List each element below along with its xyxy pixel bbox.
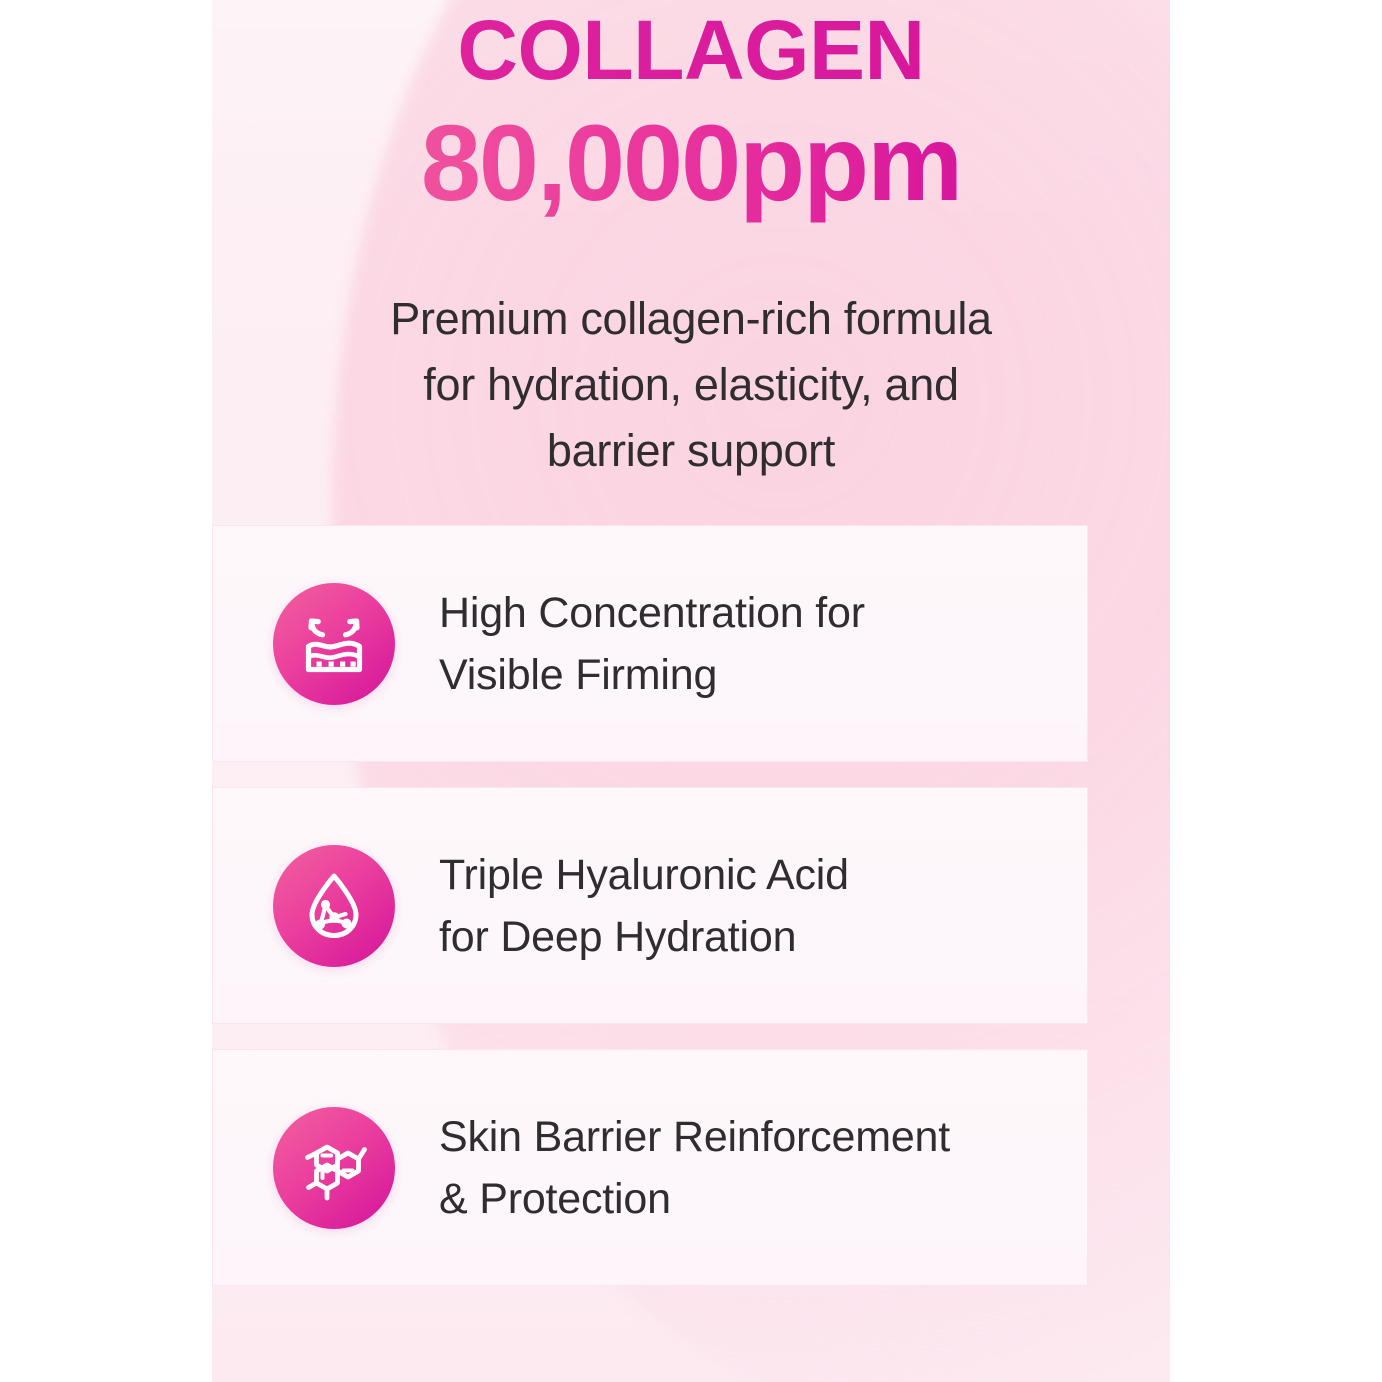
feature-label-line-1: Triple Hyaluronic Acid	[439, 844, 849, 906]
feature-card: Triple Hyaluronic Acid for Deep Hydratio…	[212, 787, 1088, 1024]
skin-layers-firming-icon	[273, 583, 395, 705]
feature-label-line-1: High Concentration for	[439, 582, 865, 644]
feature-card-list: High Concentration for Visible Firming	[212, 525, 1170, 1286]
water-droplet-molecule-icon	[273, 845, 395, 967]
feature-label-line-2: for Deep Hydration	[439, 906, 849, 968]
pink-canvas: COLLAGEN 80,000ppm Premium collagen-rich…	[212, 0, 1170, 1382]
headline-block: COLLAGEN 80,000ppm	[212, 0, 1170, 224]
feature-card-label: Triple Hyaluronic Acid for Deep Hydratio…	[439, 844, 849, 968]
subtitle-line-3: barrier support	[212, 418, 1170, 484]
feature-label-line-1: Skin Barrier Reinforcement	[439, 1106, 950, 1168]
feature-card-label: Skin Barrier Reinforcement & Protection	[439, 1106, 950, 1230]
feature-card: Skin Barrier Reinforcement & Protection	[212, 1049, 1088, 1286]
feature-card: High Concentration for Visible Firming	[212, 525, 1088, 762]
feature-card-label: High Concentration for Visible Firming	[439, 582, 865, 706]
product-title: COLLAGEN	[212, 0, 1170, 98]
subtitle-line-2: for hydration, elasticity, and	[212, 352, 1170, 418]
subtitle: Premium collagen-rich formula for hydrat…	[212, 286, 1170, 484]
feature-label-line-2: & Protection	[439, 1168, 950, 1230]
concentration-value: 80,000ppm	[212, 98, 1170, 224]
subtitle-line-1: Premium collagen-rich formula	[212, 286, 1170, 352]
feature-label-line-2: Visible Firming	[439, 644, 865, 706]
hexagon-molecule-icon	[273, 1107, 395, 1229]
content-area: COLLAGEN 80,000ppm Premium collagen-rich…	[212, 0, 1170, 1382]
infographic-page: COLLAGEN 80,000ppm Premium collagen-rich…	[0, 0, 1382, 1382]
